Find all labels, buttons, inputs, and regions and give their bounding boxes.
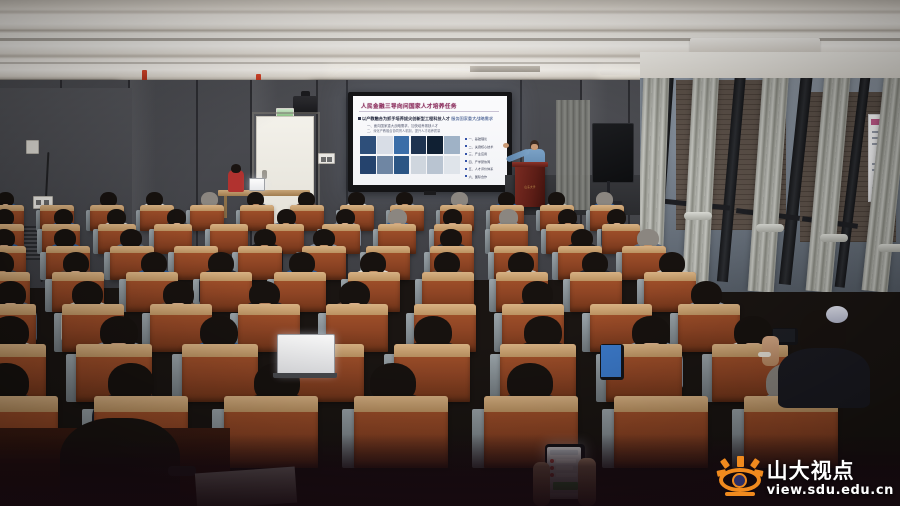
slide-list-label: 三、产业应用: [469, 151, 488, 156]
ceiling-vent-icon: [470, 66, 540, 72]
wall-outlet-icon: [26, 140, 39, 154]
audience-laptop-base: [273, 373, 337, 378]
audience-arm: [762, 336, 779, 366]
slide-bullet-emphasis: 服务国家重大战略需求: [451, 116, 493, 121]
slide-title-rule: [359, 111, 499, 112]
slide-bullet-marker: [358, 117, 361, 120]
curtain-tie: [756, 224, 784, 232]
curtain-tie: [684, 212, 712, 220]
slide-list-label: 四、产学研协同: [469, 159, 491, 164]
table-leg: [224, 196, 227, 218]
speaker-hand: [503, 143, 509, 148]
slide-image-tile: [427, 156, 443, 174]
watermark-text: 山大视点 view.sdu.edu.cn: [767, 461, 894, 497]
operator-laptop: [249, 178, 265, 191]
curtain-tie: [820, 234, 848, 242]
watermark: 山大视点 view.sdu.edu.cn: [717, 456, 894, 502]
slide-list-item: 五、人才评价体系: [465, 166, 503, 171]
slide-list-item: 四、产学研协同: [465, 159, 503, 164]
window-header: [640, 52, 900, 78]
slide-image-tile: [444, 136, 460, 154]
slide-image-tile: [377, 156, 393, 174]
slide-list-label: 一、基础理论: [469, 136, 488, 141]
slide-image-tile: [411, 156, 427, 174]
wristwatch-icon: [758, 352, 771, 357]
slide-image-tile: [360, 156, 376, 174]
wall-outlet-icon: [318, 153, 335, 164]
slide-list-item: 六、国际合作: [465, 174, 503, 179]
screen-stand: [424, 191, 436, 195]
auditorium-seat[interactable]: [182, 344, 258, 402]
audience-phone: [600, 344, 624, 380]
sdu-eye-sun-logo-icon: [717, 456, 763, 502]
lecture-hall-photo: 人民金融三导向问国家人才培养任务 以产教融合为抓手培养拔尖创新型工程科技人才 服…: [0, 0, 900, 506]
slide-title: 人民金融三导向问国家人才培养任务: [361, 102, 457, 110]
podium-plaque: 山东大学: [518, 185, 542, 189]
watermark-site-name: 山大视点: [767, 461, 855, 482]
slide-bullet-main: 以产教融合为抓手培养拔尖创新型工程科技人才 服务国家重大战略需求: [362, 116, 493, 122]
audience-body: [778, 348, 870, 408]
tv-monitor-icon: [592, 123, 634, 183]
slide-list-bullet-icon: [465, 160, 467, 162]
slide-image-tile: [360, 136, 376, 154]
slide-image-tile: [411, 136, 427, 154]
slide-image-tile: [394, 156, 410, 174]
slide-list-item: 二、关键核心技术: [465, 144, 503, 149]
slide-list-bullet-icon: [465, 175, 467, 177]
slide-list-bullet-icon: [465, 138, 467, 140]
speaker-face: [531, 144, 538, 150]
slide-image-grid: [360, 136, 460, 174]
slide-sub-line-2: 二、深化产教融合协同育人机制，提升人才培养质量: [367, 128, 440, 133]
audience-laptop: [277, 334, 335, 376]
slide-bullet-main-text: 以产教融合为抓手培养拔尖创新型工程科技人才: [362, 116, 450, 121]
slide-image-tile: [377, 136, 393, 154]
slide-right-list: 一、基础理论二、关键核心技术三、产业应用四、产学研协同五、人才评价体系六、国际合…: [465, 136, 503, 182]
slide-list-bullet-icon: [465, 145, 467, 147]
watermark-url: view.sdu.edu.cn: [767, 484, 894, 497]
operator-head: [231, 164, 241, 173]
slide-list-label: 二、关键核心技术: [469, 144, 494, 149]
hair-scrunchie: [826, 306, 848, 323]
projection-screen: 人民金融三导向问国家人才培养任务 以产教融合为抓手培养拔尖创新型工程科技人才 服…: [353, 96, 507, 185]
slide-list-item: 一、基础理论: [465, 136, 503, 141]
slide-list-label: 五、人才评价体系: [469, 166, 494, 171]
podium-top: [512, 162, 548, 167]
curtain-tie: [878, 244, 900, 252]
slide-list-bullet-icon: [465, 153, 467, 155]
slide-list-bullet-icon: [465, 168, 467, 170]
slide-image-tile: [444, 156, 460, 174]
slide-image-tile: [427, 136, 443, 154]
slide-list-label: 六、国际合作: [469, 174, 488, 179]
slide-list-item: 三、产业应用: [465, 151, 503, 156]
ceiling-light: [330, 68, 470, 71]
slide-image-tile: [394, 136, 410, 154]
operator-person: [228, 170, 244, 192]
